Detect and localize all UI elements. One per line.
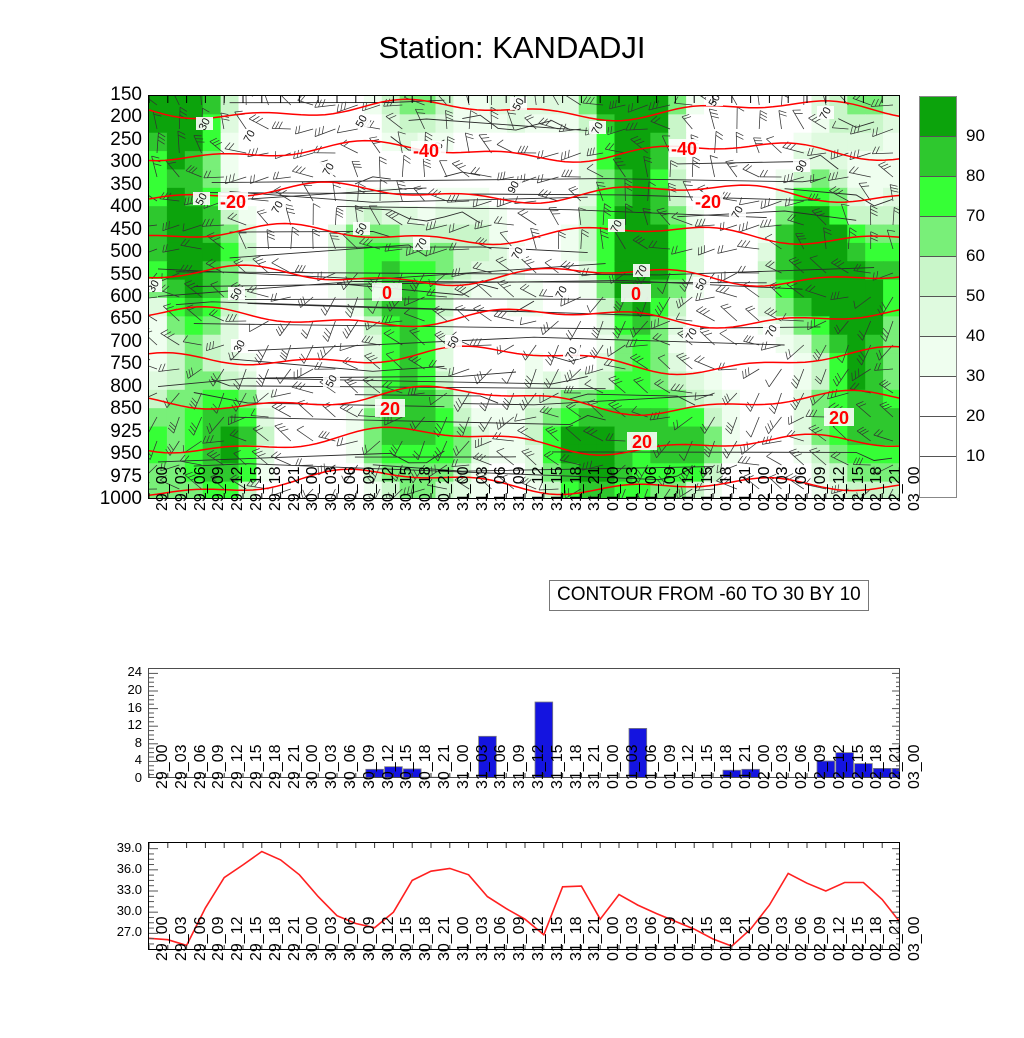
- temp-tick-label: 36.0: [117, 862, 142, 875]
- colorbar-band: [920, 257, 956, 297]
- colorbar-tick-label: 60: [966, 247, 985, 264]
- pressure-tick-label: 350: [110, 175, 142, 194]
- time-tick-label: 31_21: [586, 467, 604, 512]
- time-tick-label: 29_15: [248, 467, 266, 512]
- rain-tick-label: 12: [128, 718, 142, 731]
- time-tick-label: 29_00: [154, 745, 172, 790]
- time-tick-label: 30_15: [398, 917, 416, 962]
- time-tick-label: 01_03: [624, 917, 642, 962]
- time-tick-label: 01_06: [643, 467, 661, 512]
- time-tick-label: 02_09: [812, 467, 830, 512]
- time-tick-label: 01_12: [680, 467, 698, 512]
- time-tick-label: 30_12: [380, 745, 398, 790]
- time-tick-label: 31_09: [511, 467, 529, 512]
- page-title: Station: KANDADJI: [0, 30, 1024, 66]
- time-tick-label: 01_09: [662, 467, 680, 512]
- time-tick-label: 30_06: [342, 745, 360, 790]
- time-tick-label: 01_18: [718, 745, 736, 790]
- time-tick-label: 01_03: [624, 467, 642, 512]
- time-tick-label: 02_12: [831, 745, 849, 790]
- time-tick-label: 31_00: [455, 745, 473, 790]
- rain-tick-label: 8: [135, 736, 142, 749]
- time-tick-label: 30_00: [304, 917, 322, 962]
- time-tick-label: 31_15: [549, 745, 567, 790]
- temp-tick-label: 27.0: [117, 925, 142, 938]
- time-tick-label: 29_21: [286, 467, 304, 512]
- pressure-tick-label: 450: [110, 220, 142, 239]
- time-tick-label: 29_09: [210, 917, 228, 962]
- time-tick-label: 31_09: [511, 745, 529, 790]
- sounding-contour-plot[interactable]: 3070507030507050705070505070707070705070…: [148, 95, 900, 499]
- time-tick-label: 02_00: [756, 467, 774, 512]
- time-tick-label: 29_21: [286, 745, 304, 790]
- time-tick-label: 29_12: [229, 467, 247, 512]
- rain-tick-label: 0: [135, 771, 142, 784]
- time-tick-label: 02_06: [793, 745, 811, 790]
- pressure-tick-label: 500: [110, 242, 142, 261]
- time-tick-label: 02_09: [812, 917, 830, 962]
- time-tick-label: 01_09: [662, 917, 680, 962]
- colorbar-band: [920, 97, 956, 137]
- time-tick-label: 31_15: [549, 917, 567, 962]
- time-tick-label: 30_06: [342, 917, 360, 962]
- time-tick-label: 02_00: [756, 745, 774, 790]
- time-tick-label: 01_00: [605, 917, 623, 962]
- sounding-canvas: 3070507030507050705070505070707070705070…: [149, 96, 900, 499]
- time-tick-label: 29_18: [267, 745, 285, 790]
- time-tick-label: 02_03: [774, 467, 792, 512]
- temp-tick-label: 30.0: [117, 904, 142, 917]
- time-tick-label: 31_12: [530, 917, 548, 962]
- time-tick-label: 29_06: [192, 745, 210, 790]
- time-tick-label: 02_21: [887, 917, 905, 962]
- time-tick-label: 30_18: [417, 917, 435, 962]
- time-tick-label: 29_12: [229, 917, 247, 962]
- colorbar-band: [920, 297, 956, 337]
- time-tick-label: 29_03: [173, 745, 191, 790]
- time-tick-label: 01_18: [718, 917, 736, 962]
- time-tick-label: 30_03: [323, 467, 341, 512]
- time-tick-label: 30_12: [380, 467, 398, 512]
- time-tick-label: 01_00: [605, 467, 623, 512]
- rain-tick-label: 20: [128, 683, 142, 696]
- time-tick-label: 31_00: [455, 467, 473, 512]
- time-tick-label: 31_03: [474, 917, 492, 962]
- colorbar-band: [920, 457, 956, 497]
- time-tick-label: 02_18: [868, 745, 886, 790]
- time-tick-label: 30_03: [323, 917, 341, 962]
- colorbar-band: [920, 417, 956, 457]
- time-tick-label: 31_18: [568, 745, 586, 790]
- rain-tick-label: 16: [128, 701, 142, 714]
- colorbar-tick-label: 50: [966, 287, 985, 304]
- time-tick-label: 30_21: [436, 467, 454, 512]
- time-tick-label: 29_09: [210, 745, 228, 790]
- time-tick-label: 30_09: [361, 467, 379, 512]
- pressure-axis-ticks: 1502002503003504004505005506006507007508…: [56, 95, 142, 499]
- pressure-tick-label: 750: [110, 354, 142, 373]
- contour-range-note: CONTOUR FROM -60 TO 30 BY 10: [549, 580, 869, 611]
- sounding-figure: Station: KANDADJI 1502002503003504004505…: [0, 0, 1024, 1024]
- temp-tick-label: 33.0: [117, 883, 142, 896]
- time-tick-label: 02_21: [887, 467, 905, 512]
- colorbar-tick-label: 80: [966, 167, 985, 184]
- time-tick-label: 02_06: [793, 917, 811, 962]
- time-tick-label: 01_15: [699, 467, 717, 512]
- colorbar-tick-label: 40: [966, 327, 985, 344]
- pressure-tick-label: 150: [110, 85, 142, 104]
- pressure-tick-label: 850: [110, 399, 142, 418]
- time-tick-label: 02_12: [831, 917, 849, 962]
- time-tick-label: 31_18: [568, 917, 586, 962]
- time-tick-label: 02_18: [868, 467, 886, 512]
- time-tick-label: 01_03: [624, 745, 642, 790]
- time-tick-label: 02_03: [774, 745, 792, 790]
- pressure-tick-label: 700: [110, 332, 142, 351]
- time-tick-label: 31_06: [492, 467, 510, 512]
- time-tick-label: 29_06: [192, 917, 210, 962]
- pressure-tick-label: 300: [110, 152, 142, 171]
- colorbar-tick-label: 70: [966, 207, 985, 224]
- svg-text:-20: -20: [695, 192, 721, 212]
- time-tick-label: 29_21: [286, 917, 304, 962]
- time-tick-label: 29_06: [192, 467, 210, 512]
- pressure-tick-label: 800: [110, 377, 142, 396]
- colorbar-band: [920, 177, 956, 217]
- time-tick-label: 01_21: [737, 467, 755, 512]
- time-tick-label: 31_06: [492, 917, 510, 962]
- time-tick-label: 31_12: [530, 745, 548, 790]
- svg-text:0: 0: [382, 283, 392, 303]
- time-tick-label: 30_09: [361, 745, 379, 790]
- time-tick-label: 30_00: [304, 745, 322, 790]
- colorbar-band: [920, 137, 956, 177]
- main-time-axis: 29_0029_0329_0629_0929_1229_1529_1829_21…: [148, 508, 900, 588]
- time-tick-label: 31_12: [530, 467, 548, 512]
- pressure-tick-label: 925: [110, 422, 142, 441]
- time-tick-label: 30_03: [323, 745, 341, 790]
- time-tick-label: 29_18: [267, 917, 285, 962]
- time-tick-label: 31_15: [549, 467, 567, 512]
- pressure-tick-label: 400: [110, 197, 142, 216]
- colorbar-tick-label: 10: [966, 447, 985, 464]
- temp-tick-label: 39.0: [117, 841, 142, 854]
- pressure-tick-label: 950: [110, 444, 142, 463]
- pressure-tick-label: 250: [110, 130, 142, 149]
- colorbar-tick-label: 90: [966, 127, 985, 144]
- time-tick-label: 01_21: [737, 745, 755, 790]
- time-tick-label: 02_00: [756, 917, 774, 962]
- time-tick-label: 30_12: [380, 917, 398, 962]
- time-tick-label: 31_21: [586, 745, 604, 790]
- time-tick-label: 30_00: [304, 467, 322, 512]
- svg-text:20: 20: [632, 432, 652, 452]
- time-tick-label: 31_03: [474, 467, 492, 512]
- pressure-tick-label: 200: [110, 107, 142, 126]
- time-tick-label: 02_15: [850, 467, 868, 512]
- time-tick-label: 29_03: [173, 467, 191, 512]
- svg-text:20: 20: [380, 399, 400, 419]
- colorbar-band: [920, 217, 956, 257]
- time-tick-label: 29_09: [210, 467, 228, 512]
- colorbar-tick-label: 20: [966, 407, 985, 424]
- time-tick-label: 30_15: [398, 467, 416, 512]
- time-tick-label: 31_09: [511, 917, 529, 962]
- colorbar-band: [920, 337, 956, 377]
- svg-text:-40: -40: [413, 141, 439, 161]
- pressure-tick-label: 975: [110, 467, 142, 486]
- time-tick-label: 02_12: [831, 467, 849, 512]
- time-tick-label: 31_03: [474, 745, 492, 790]
- time-tick-label: 01_12: [680, 745, 698, 790]
- time-tick-label: 01_06: [643, 745, 661, 790]
- time-tick-label: 30_21: [436, 917, 454, 962]
- time-tick-label: 30_18: [417, 467, 435, 512]
- time-tick-label: 01_15: [699, 745, 717, 790]
- time-tick-label: 29_12: [229, 745, 247, 790]
- time-tick-label: 02_15: [850, 917, 868, 962]
- time-tick-label: 02_18: [868, 917, 886, 962]
- temp-time-axis: 29_0029_0329_0629_0929_1229_1529_1829_21…: [148, 958, 900, 1038]
- time-tick-label: 31_18: [568, 467, 586, 512]
- time-tick-label: 30_18: [417, 745, 435, 790]
- time-tick-label: 30_09: [361, 917, 379, 962]
- svg-text:0: 0: [631, 284, 641, 304]
- time-tick-label: 01_15: [699, 917, 717, 962]
- time-tick-label: 03_00: [906, 745, 924, 790]
- time-tick-label: 29_15: [248, 917, 266, 962]
- time-tick-label: 30_06: [342, 467, 360, 512]
- time-tick-label: 30_21: [436, 745, 454, 790]
- time-tick-label: 29_03: [173, 917, 191, 962]
- svg-text:-40: -40: [671, 139, 697, 159]
- time-tick-label: 02_21: [887, 745, 905, 790]
- rain-axis-ticks: 04812162024: [96, 668, 142, 778]
- time-tick-label: 01_00: [605, 745, 623, 790]
- time-tick-label: 30_15: [398, 745, 416, 790]
- time-tick-label: 02_06: [793, 467, 811, 512]
- time-tick-label: 29_00: [154, 467, 172, 512]
- time-tick-label: 02_15: [850, 745, 868, 790]
- humidity-colorbar: [919, 96, 957, 498]
- pressure-tick-label: 600: [110, 287, 142, 306]
- time-tick-label: 29_00: [154, 917, 172, 962]
- pressure-tick-label: 650: [110, 309, 142, 328]
- temp-axis-ticks: 27.030.033.036.039.0: [76, 842, 142, 950]
- time-tick-label: 01_21: [737, 917, 755, 962]
- colorbar-band: [920, 377, 956, 417]
- time-tick-label: 03_00: [906, 917, 924, 962]
- time-tick-label: 31_06: [492, 745, 510, 790]
- rain-tick-label: 4: [135, 753, 142, 766]
- colorbar-tick-label: 30: [966, 367, 985, 384]
- time-tick-label: 29_18: [267, 467, 285, 512]
- svg-text:-20: -20: [220, 192, 246, 212]
- time-tick-label: 31_00: [455, 917, 473, 962]
- time-tick-label: 31_21: [586, 917, 604, 962]
- pressure-tick-label: 550: [110, 265, 142, 284]
- time-tick-label: 01_06: [643, 917, 661, 962]
- time-tick-label: 02_03: [774, 917, 792, 962]
- time-tick-label: 01_18: [718, 467, 736, 512]
- rain-tick-label: 24: [128, 665, 142, 678]
- pressure-tick-label: 1000: [100, 489, 142, 508]
- time-tick-label: 29_15: [248, 745, 266, 790]
- svg-text:20: 20: [829, 408, 849, 428]
- time-tick-label: 01_09: [662, 745, 680, 790]
- time-tick-label: 01_12: [680, 917, 698, 962]
- time-tick-label: 02_09: [812, 745, 830, 790]
